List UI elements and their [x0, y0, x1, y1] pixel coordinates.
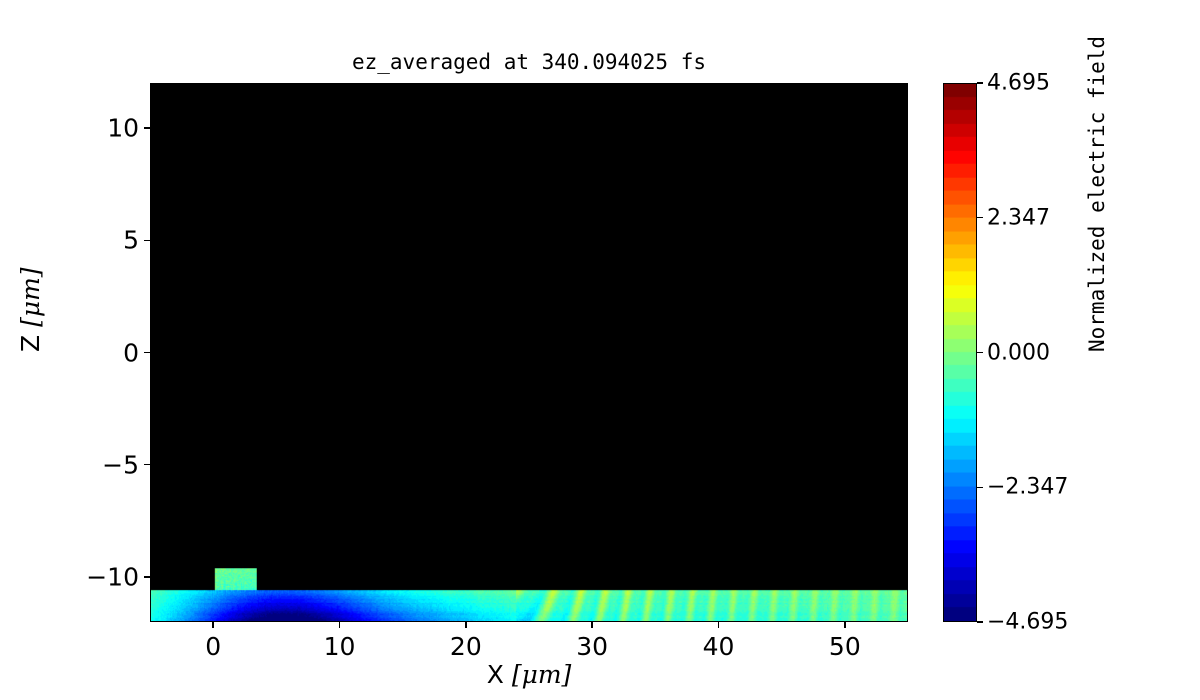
y-tick-mark [144, 352, 150, 353]
colorbar-tick-label: 2.347 [987, 205, 1050, 230]
y-tick-label: 10 [107, 113, 139, 142]
colorbar-gradient-canvas [944, 84, 976, 621]
y-tick-mark [144, 576, 150, 577]
colorbar-tick-label: 0.000 [987, 340, 1050, 365]
x-tick-label: 20 [450, 632, 482, 661]
colorbar-tick-mark [977, 487, 983, 488]
colorbar-tick-label: −4.695 [987, 610, 1068, 635]
x-tick-label: 50 [829, 632, 861, 661]
colorbar [943, 83, 977, 622]
x-tick-label: 0 [205, 632, 221, 661]
x-axis-label-unit: [μm] [512, 660, 571, 689]
colorbar-tick-mark [977, 352, 983, 353]
heatmap-axes [150, 83, 908, 622]
x-tick-label: 30 [576, 632, 608, 661]
y-tick-mark [144, 240, 150, 241]
y-tick-label: 5 [123, 226, 139, 255]
x-axis-label-text: X [487, 660, 504, 689]
x-tick-label: 40 [703, 632, 735, 661]
y-axis-label-text: Z [16, 335, 45, 352]
x-tick-mark [339, 622, 340, 628]
colorbar-tick-mark [977, 217, 983, 218]
y-axis-label-unit: [μm] [16, 267, 45, 326]
x-tick-mark [465, 622, 466, 628]
x-axis-label: X [μm] [150, 660, 908, 689]
y-tick-label: 0 [123, 338, 139, 367]
y-tick-label: −5 [102, 450, 139, 479]
colorbar-tick-label: 4.695 [987, 71, 1050, 96]
figure-root: ez_averaged at 340.094025 fs 01020304050… [0, 0, 1200, 700]
field-heatmap-canvas [151, 84, 907, 621]
y-tick-mark [144, 127, 150, 128]
y-axis-label: Z [μm] [16, 267, 45, 352]
y-tick-mark [144, 464, 150, 465]
x-tick-mark [718, 622, 719, 628]
colorbar-label: Normalized electric field [1085, 36, 1109, 352]
colorbar-tick-mark [977, 621, 983, 622]
x-tick-mark [212, 622, 213, 628]
x-tick-mark [591, 622, 592, 628]
plot-title: ez_averaged at 340.094025 fs [150, 50, 908, 74]
colorbar-tick-label: −2.347 [987, 475, 1068, 500]
y-tick-label: −10 [86, 563, 139, 592]
colorbar-tick-mark [977, 82, 983, 83]
x-tick-label: 10 [324, 632, 356, 661]
x-tick-mark [844, 622, 845, 628]
